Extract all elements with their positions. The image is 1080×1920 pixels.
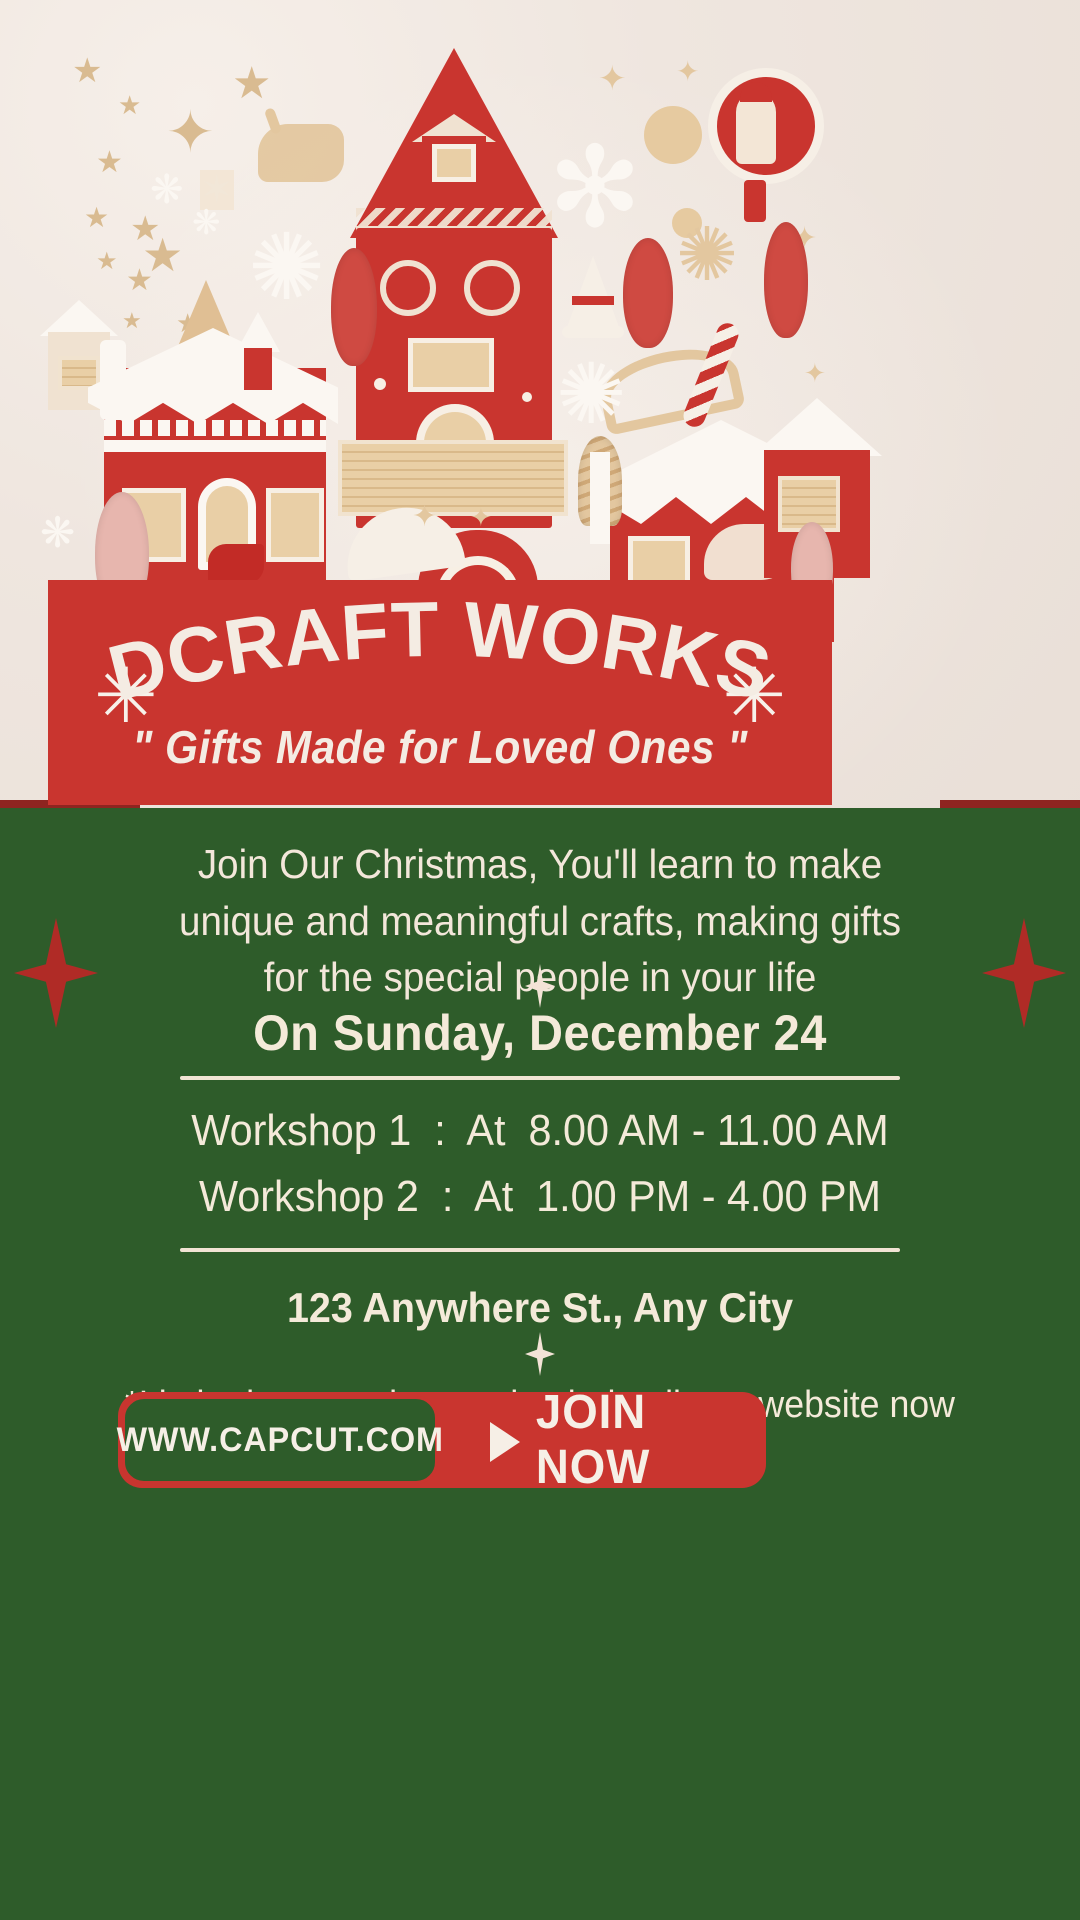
- banner-card: ✳ ✳ HANDCRAFT WORKSHOP " Gifts Made for …: [48, 580, 832, 805]
- house-roof: [752, 398, 882, 456]
- event-address: 123 Anywhere St., Any City: [32, 1284, 1047, 1332]
- wooden-star-icon: ★: [232, 62, 271, 106]
- house-window: [266, 488, 324, 562]
- scroll-swirl-ornament: [380, 260, 436, 316]
- poster-root: ★ ★ ✦ ★ ★ ✶ ★ ★ ★ ★ ★ ★ ★ ❋ ❋ ✺ ❋: [0, 0, 1080, 1920]
- description-line: unique and meaningful crafts, making gif…: [164, 893, 916, 950]
- schedule-separator: :: [434, 1106, 446, 1155]
- house-scallop-trim: [104, 420, 326, 436]
- santa-figure: [736, 92, 776, 164]
- wooden-star-icon: ★: [96, 250, 118, 274]
- schedule-prefix: At: [474, 1172, 513, 1221]
- pearl-garland: [590, 452, 610, 544]
- schedule-separator: :: [442, 1172, 454, 1221]
- paper-snowflake-icon: ✺: [248, 222, 325, 314]
- schedule-label: Workshop 2: [199, 1172, 419, 1221]
- house-window: [408, 338, 494, 392]
- svg-text:HANDCRAFT WORKSHOP: HANDCRAFT WORKSHOP: [88, 602, 780, 717]
- banner-title-text: HANDCRAFT WORKSHOP: [88, 602, 780, 717]
- paper-snowflake-icon: ✻: [548, 132, 642, 244]
- wooden-reindeer-ornament: [258, 124, 344, 182]
- paper-snowflake-icon: ❋: [150, 170, 184, 210]
- website-field[interactable]: WWW.CAPCUT.COM: [122, 1396, 438, 1484]
- paper-rosette-ornament: [644, 106, 702, 164]
- wooden-star-icon: ★: [118, 92, 141, 118]
- ornament-hook: [744, 180, 766, 222]
- paper-snowflake-icon: ✺: [556, 352, 626, 436]
- schedule-label: Workshop 1: [191, 1106, 411, 1155]
- join-now-button[interactable]: JOIN NOW: [536, 1392, 760, 1488]
- cta-bar[interactable]: WWW.CAPCUT.COM JOIN NOW: [118, 1392, 766, 1488]
- wooden-star-icon: ★: [142, 232, 183, 278]
- paper-snowflake-icon: ✺: [676, 218, 738, 292]
- banner-title: HANDCRAFT WORKSHOP: [88, 602, 792, 722]
- divider-line: [180, 1248, 900, 1252]
- dormer-window: [432, 144, 476, 182]
- website-url: WWW.CAPCUT.COM: [116, 1421, 443, 1460]
- schedule-row-1: Workshop 1 : At 8.00 AM - 11.00 AM: [32, 1106, 1047, 1156]
- wooden-star-icon: ★: [96, 148, 123, 178]
- cone-hat-brim: [562, 326, 624, 338]
- snow-dot: [522, 392, 532, 402]
- details-section: Join Our Christmas, You'll learn to make…: [0, 808, 1080, 1920]
- wooden-star-icon: ★: [72, 54, 102, 88]
- snow-dot: [374, 378, 386, 390]
- house-band: [104, 440, 326, 452]
- paper-snowflake-icon: ✦: [676, 58, 699, 86]
- banner-subtitle: " Gifts Made for Loved Ones ": [79, 720, 800, 774]
- wooden-star-icon: ★: [84, 204, 109, 232]
- schedule-time: 8.00 AM - 11.00 AM: [528, 1106, 888, 1155]
- paper-snowflake-icon: ✦: [470, 504, 492, 530]
- wooden-shutter-panel: [338, 440, 568, 516]
- scroll-swirl-ornament: [464, 260, 520, 316]
- paper-snowflake-icon: ✦: [804, 360, 826, 386]
- play-triangle-icon: [490, 1422, 520, 1462]
- cone-hat-stripe: [572, 296, 614, 305]
- event-date: On Sunday, December 24: [32, 1004, 1047, 1062]
- four-point-sparkle-icon: [525, 1332, 555, 1376]
- house-turret-body: [244, 348, 272, 390]
- house-tower: [100, 340, 126, 420]
- roof-zigzag-trim: [356, 208, 552, 228]
- paper-snowflake-icon: ❋: [192, 206, 221, 240]
- paper-snowflake-icon: ✦: [598, 62, 627, 96]
- schedule-prefix: At: [466, 1106, 505, 1155]
- paper-snowflake-icon: ❋: [40, 512, 75, 554]
- schedule-row-2: Workshop 2 : At 1.00 PM - 4.00 PM: [32, 1172, 1047, 1222]
- description-line: Join Our Christmas, You'll learn to make: [164, 836, 916, 893]
- divider-line: [180, 1076, 900, 1080]
- paper-snowflake-icon: ✦: [412, 502, 437, 532]
- schedule-time: 1.00 PM - 4.00 PM: [536, 1172, 881, 1221]
- wooden-star-icon: ✦: [166, 104, 215, 162]
